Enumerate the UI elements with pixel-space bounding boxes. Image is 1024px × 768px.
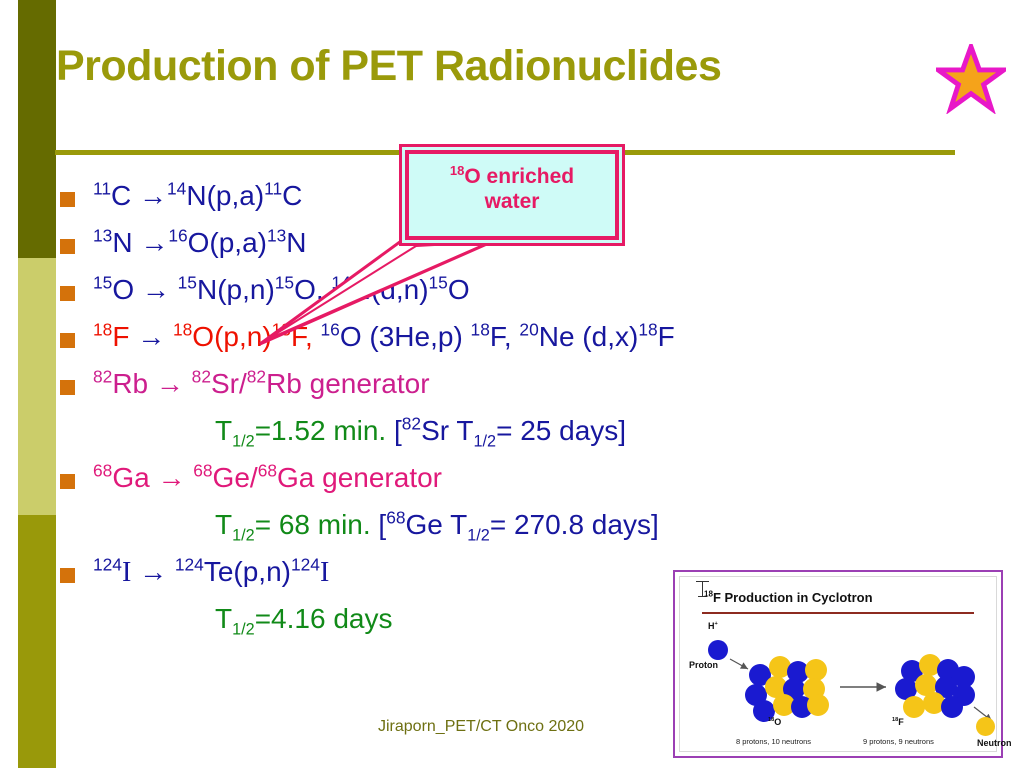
label-o18: 18O	[768, 717, 781, 727]
label-neutron: Neutron	[977, 738, 1012, 748]
caption-o18: 8 protons, 10 neutrons	[736, 737, 811, 746]
figure-diagram	[680, 615, 1000, 755]
slide-canvas: Production of PET Radionuclides 11C →14N…	[0, 0, 1024, 768]
list-item: 18F → 18O(p,n)18F, 16O (3He,p) 18F, 20Ne…	[60, 319, 960, 363]
callout-line-1: 18O enriched	[450, 165, 574, 188]
slide-title: Production of PET Radionuclides	[56, 44, 936, 89]
list-item: T1/2= 68 min. [68Ge T1/2= 270.8 days]	[60, 507, 960, 551]
callout-line-2: water	[485, 190, 540, 213]
callout-pointer	[240, 232, 510, 352]
equation-rb82-halflife: T1/2=1.52 min. [82Sr T1/2= 25 days]	[93, 413, 626, 449]
equation-ga68: 68Ga → 68Ge/68Ga generator	[93, 460, 442, 496]
sidebar-band-top	[18, 0, 56, 258]
equation-i124: 124I → 124Te(p,n)124I	[93, 554, 329, 591]
equation-rb82: 82Rb → 82Sr/82Rb generator	[93, 366, 430, 402]
equation-ga68-halflife: T1/2= 68 min. [68Ge T1/2= 270.8 days]	[93, 507, 659, 543]
bullet-square-icon	[60, 286, 75, 301]
bullet-square-icon	[60, 192, 75, 207]
bullet-square-icon	[60, 333, 75, 348]
label-h-plus: H+	[708, 621, 718, 631]
sidebar-band-middle	[18, 258, 56, 515]
bullet-square-icon	[60, 568, 75, 583]
star-icon	[936, 44, 1006, 114]
free-neutron-circle	[976, 717, 995, 736]
list-item: 15O → 15N(p,n)15O, 14N(d,n)15O	[60, 272, 960, 316]
bullet-square-icon	[60, 380, 75, 395]
equation-i124-halflife: T1/2=4.16 days	[93, 601, 392, 637]
cyclotron-figure-inner: 18F Production in Cyclotron	[679, 576, 997, 752]
cyclotron-figure: 18F Production in Cyclotron	[673, 570, 1003, 758]
label-proton: Proton	[689, 660, 718, 670]
figure-title-rule	[702, 612, 974, 614]
label-f18: 18F	[892, 717, 904, 727]
figure-title: 18F Production in Cyclotron	[704, 590, 873, 605]
f18-nucleus	[895, 654, 975, 718]
callout-box: 18O enriched water	[405, 150, 619, 240]
incoming-proton-circle	[708, 640, 728, 660]
figure-tick-mark	[702, 581, 703, 597]
figure-tick-cap-top	[696, 581, 709, 582]
callout-text: 18O enriched water	[409, 165, 615, 215]
list-item: 82Rb → 82Sr/82Rb generator	[60, 366, 960, 410]
bullet-square-icon	[60, 474, 75, 489]
o18-nucleus	[745, 656, 829, 722]
sidebar-band	[18, 0, 56, 768]
sidebar-band-bottom	[18, 515, 56, 768]
caption-f18: 9 protons, 9 neutrons	[863, 737, 934, 746]
list-item: T1/2=1.52 min. [82Sr T1/2= 25 days]	[60, 413, 960, 457]
list-item: 68Ga → 68Ge/68Ga generator	[60, 460, 960, 504]
slide-footer: Jiraporn_PET/CT Onco 2020	[378, 718, 584, 736]
equation-c11: 11C →14N(p,a)11C	[93, 178, 302, 214]
bullet-square-icon	[60, 239, 75, 254]
